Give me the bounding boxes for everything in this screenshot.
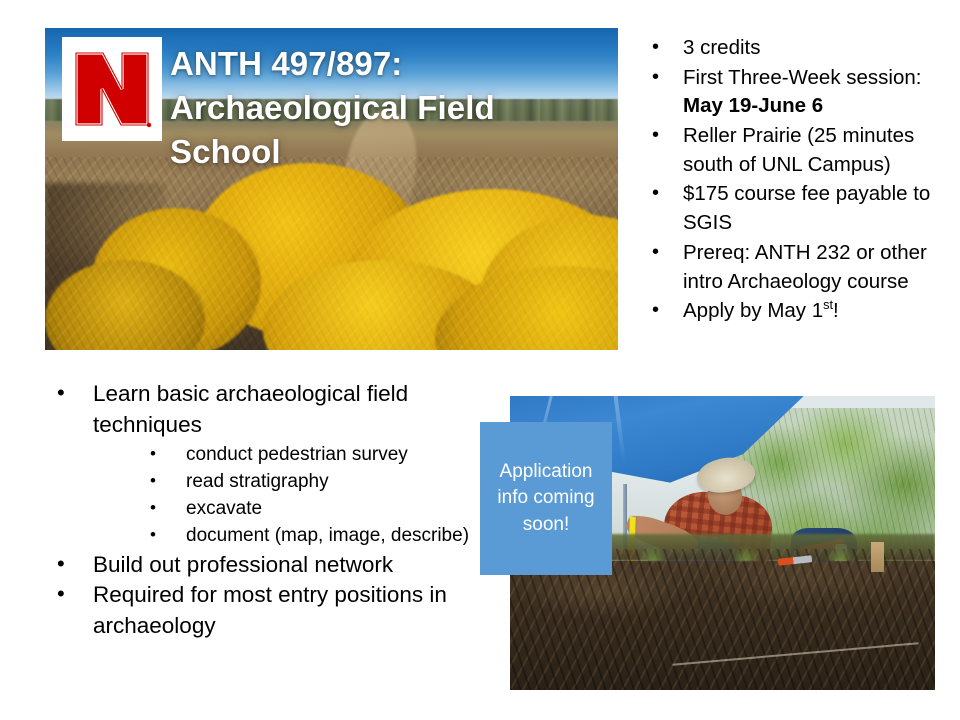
list-item-network: Build out professional network — [48, 550, 500, 581]
sub-list-item-document: document (map, image, describe) — [140, 523, 500, 550]
learning-outcomes-list: Learn basic archaeological field techniq… — [48, 379, 500, 642]
sub-list-item-excavate: excavate — [140, 496, 500, 523]
field-techniques-sublist: conduct pedestrian survey read stratigra… — [140, 442, 500, 550]
grass-tuft — [638, 545, 668, 561]
course-detail-text: Apply by May 1 — [683, 299, 823, 322]
slide-title: ANTH 497/897: Archaeological Field Schoo… — [170, 42, 600, 174]
list-item-entry-positions: Required for most entry positions in arc… — [48, 580, 500, 642]
technique-text: conduct pedestrian survey — [186, 444, 408, 465]
ordinal-suffix: st — [823, 297, 833, 312]
title-line-3: School — [170, 130, 600, 174]
list-item-location: Reller Prairie (25 minutes south of UNL … — [645, 122, 945, 179]
grass-tuft — [825, 545, 855, 561]
sub-list-item-survey: conduct pedestrian survey — [140, 442, 500, 469]
technique-text: document (map, image, describe) — [186, 525, 469, 546]
list-item-session: First Three-Week session: May 19-June 6 — [645, 64, 945, 121]
deadline-exclamation: ! — [833, 299, 839, 322]
title-line-1: ANTH 497/897: — [170, 42, 600, 86]
header-banner: ANTH 497/897: Archaeological Field Schoo… — [45, 28, 618, 350]
list-item-deadline: Apply by May 1st! — [645, 297, 945, 326]
university-of-nebraska-n-logo — [62, 37, 162, 141]
list-item-field-techniques: Learn basic archaeological field techniq… — [48, 379, 500, 550]
list-item-fee: $175 course fee payable to SGIS — [645, 180, 945, 237]
presentation-slide: ANTH 497/897: Archaeological Field Schoo… — [0, 0, 960, 720]
foliage-texture — [45, 157, 618, 350]
tarp-fold — [612, 396, 626, 464]
session-dates: May 19-June 6 — [683, 94, 823, 117]
callout-text: Application info coming soon! — [486, 459, 606, 538]
course-detail-text: Reller Prairie (25 minutes south of UNL … — [683, 124, 914, 176]
outcome-text: Learn basic archaeological field techniq… — [93, 381, 408, 437]
list-item-prereq: Prereq: ANTH 232 or other intro Archaeol… — [645, 239, 945, 296]
technique-text: read stratigraphy — [186, 471, 329, 492]
grass-tuft — [731, 545, 761, 561]
course-detail-text: Prereq: ANTH 232 or other intro Archaeol… — [683, 241, 927, 293]
sub-list-item-stratigraphy: read stratigraphy — [140, 469, 500, 496]
course-detail-text: 3 credits — [683, 36, 760, 59]
list-item-credits: 3 credits — [645, 34, 945, 63]
wooden-stake — [871, 542, 884, 572]
course-detail-text: First Three-Week session: — [683, 66, 921, 89]
course-details-list: 3 credits First Three-Week session: May … — [645, 34, 945, 327]
outcome-text: Required for most entry positions in arc… — [93, 582, 447, 638]
technique-text: excavate — [186, 498, 262, 519]
title-line-2: Archaeological Field — [170, 86, 600, 130]
outcome-text: Build out professional network — [93, 552, 393, 577]
application-info-callout: Application info coming soon! — [480, 422, 612, 575]
course-detail-text: $175 course fee payable to SGIS — [683, 182, 930, 234]
